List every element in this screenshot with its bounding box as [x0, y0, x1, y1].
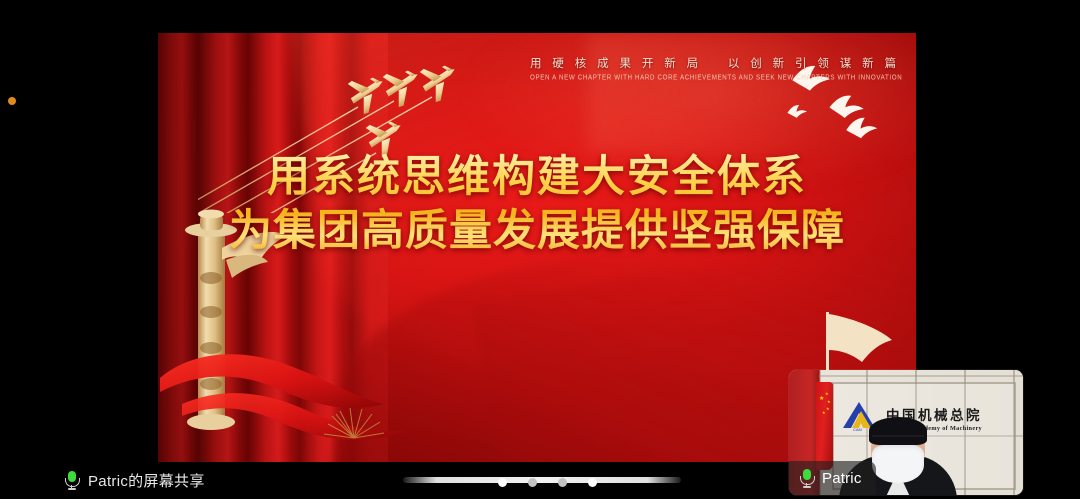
screen-sharing-status: Patric的屏幕共享 — [64, 462, 205, 499]
slide-page-dots[interactable] — [498, 478, 597, 487]
china-flag-icon: ★ ★ ★ ★ ★ — [816, 382, 833, 470]
page-dot-3[interactable] — [558, 478, 567, 487]
slide-title-line-1: 用系统思维构建大安全体系 — [267, 154, 807, 201]
slide-title-line-2: 为集团高质量发展提供坚强保障 — [158, 205, 916, 259]
slide-header-cn: 用 硬 核 成 果 开 新 局 以 创 新 引 领 谋 新 篇 — [530, 55, 890, 71]
participant-name: Patric — [822, 470, 862, 487]
microphone-icon[interactable] — [799, 469, 814, 488]
participant-video-tile[interactable]: ★ ★ ★ ★ ★ CAM 中国机械总院 Academy of Machiner… — [789, 370, 1023, 495]
face-mask-icon — [872, 445, 924, 483]
slide-header-cn-right: 以 创 新 引 领 谋 新 篇 — [728, 58, 900, 70]
slide-header-en: OPEN A NEW CHAPTER WITH HARD CORE ACHIEV… — [530, 73, 890, 82]
page-dot-1[interactable] — [498, 478, 507, 487]
participant-name-bar: Patric — [789, 461, 876, 495]
page-dot-2[interactable] — [528, 478, 537, 487]
microphone-icon[interactable] — [64, 471, 79, 490]
meeting-window: 用 硬 核 成 果 开 新 局 以 创 新 引 领 谋 新 篇 OPEN A N… — [0, 0, 1080, 499]
recording-indicator-dot — [8, 97, 16, 105]
slide-header-cn-left: 用 硬 核 成 果 开 新 局 — [530, 58, 702, 70]
screen-sharing-label: Patric的屏幕共享 — [88, 470, 205, 491]
slide-title: 用系统思维构建大安全体系 为集团高质量发展提供坚强保障 — [158, 151, 916, 259]
slide-header: 用 硬 核 成 果 开 新 局 以 创 新 引 领 谋 新 篇 OPEN A N… — [530, 55, 890, 80]
page-dot-4[interactable] — [588, 478, 597, 487]
